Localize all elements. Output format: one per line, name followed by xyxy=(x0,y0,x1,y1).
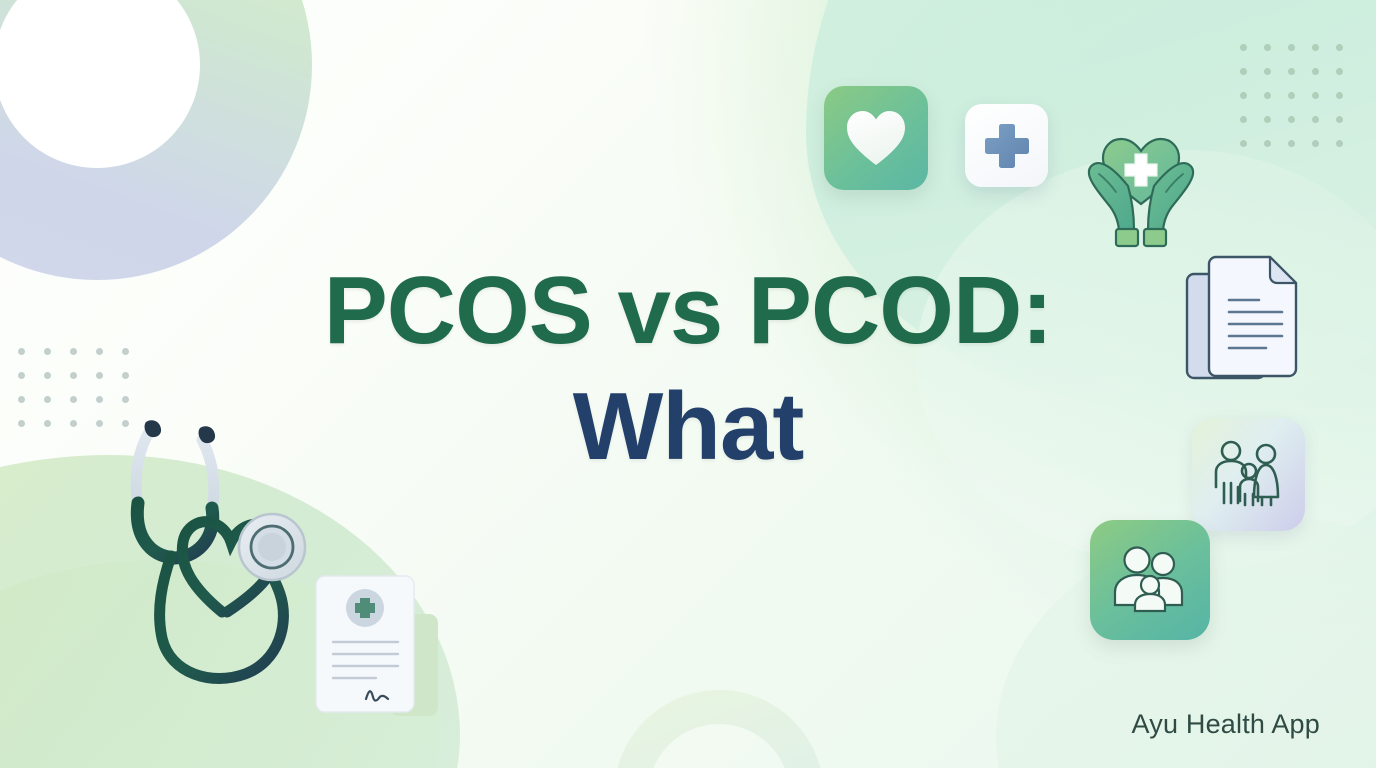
documents-illustration xyxy=(1182,246,1314,386)
prescription-document-icon xyxy=(312,572,444,724)
medical-cross-icon xyxy=(983,122,1031,170)
documents-icon xyxy=(1182,246,1314,386)
family-tile xyxy=(1192,418,1305,531)
heart-icon xyxy=(845,109,907,167)
background-ring-bottom-center xyxy=(614,690,824,768)
background-ring-top-left xyxy=(0,0,312,280)
stethoscope-heart-icon xyxy=(112,398,342,690)
slide-canvas: PCOS vs PCOD: What Ayu Health App xyxy=(0,0,1376,768)
hands-holding-heart-illustration xyxy=(1066,112,1216,262)
hands-holding-heart-icon xyxy=(1066,112,1216,262)
brand-label: Ayu Health App xyxy=(1132,709,1320,740)
medical-cross-tile xyxy=(965,104,1048,187)
prescription-illustration xyxy=(312,572,444,724)
heart-tile xyxy=(824,86,928,190)
family-icon xyxy=(1210,439,1288,511)
people-group-icon xyxy=(1111,547,1189,613)
people-group-tile xyxy=(1090,520,1210,640)
dot-grid-right xyxy=(1240,44,1360,164)
stethoscope-illustration xyxy=(112,398,342,690)
